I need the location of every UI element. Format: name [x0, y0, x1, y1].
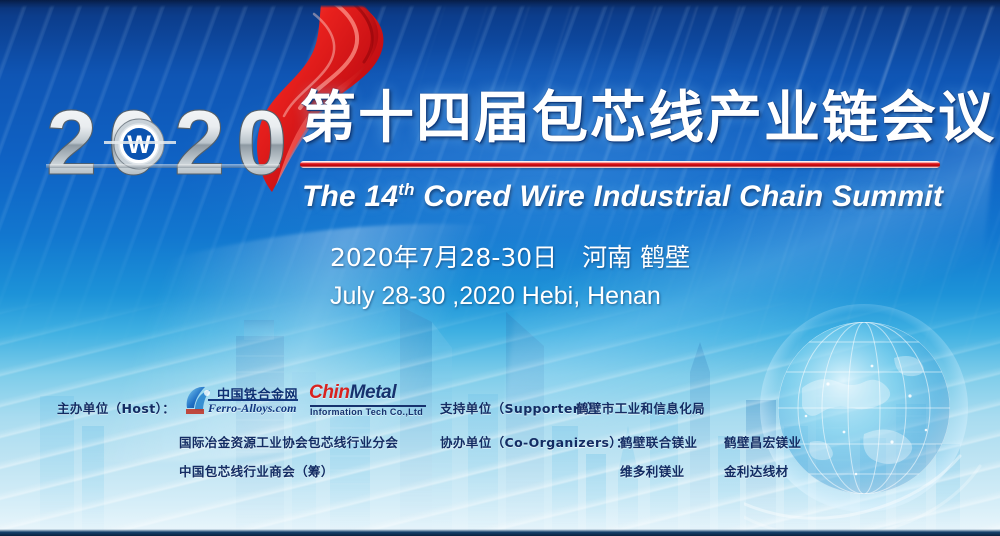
chinmetal-word-blue: Metal	[350, 382, 397, 403]
event-date-en: July 28-30 ,2020 Hebi, Henan	[330, 281, 661, 311]
svg-text:W: W	[127, 131, 151, 159]
co-organizer-item-4: 金利达线材	[724, 461, 789, 480]
wireframe-globe-icon	[744, 292, 992, 536]
chinmetal-subtitle: Information Tech Co.,Ltd	[310, 407, 423, 417]
chinmetal-logo: ChinMetal Information Tech Co.,Ltd	[309, 382, 429, 420]
title-en-ordinal: th	[398, 180, 414, 199]
host-org-line-2: 中国包芯线行业商会（筹）	[179, 461, 334, 480]
top-edge-band	[0, 0, 1000, 8]
ferro-alloys-en: Ferro-Alloys.com	[208, 401, 297, 416]
bottom-edge-band	[0, 529, 1000, 536]
conference-banner: 2 0 2 0 W 第十四届包芯线产业链会议 The 14th Cored Wi…	[0, 0, 1000, 536]
co-organizers-label: 协办单位（Co-Organizers）：	[440, 432, 629, 451]
event-date-cn: 2020年7月28-30日 河南 鹤壁	[330, 243, 690, 273]
host-label: 主办单位（Host）：	[57, 398, 175, 417]
title-divider	[300, 161, 940, 168]
page-title-en: The 14th Cored Wire Industrial Chain Sum…	[302, 172, 942, 215]
svg-text:2: 2	[46, 96, 97, 188]
logo-2020: 2 0 2 0 W	[46, 96, 306, 188]
title-en-post: Cored Wire Industrial Chain Summit	[415, 180, 943, 213]
title-en-pre: The 14	[302, 180, 398, 213]
svg-text:0: 0	[236, 96, 287, 188]
host-org-line-1: 国际冶金资源工业协会包芯线行业分会	[179, 432, 398, 451]
co-organizer-item-2: 鹤壁昌宏镁业	[724, 432, 801, 451]
co-organizer-item-1: 鹤壁联合镁业	[620, 432, 697, 451]
chinmetal-wordmark: ChinMetal	[309, 382, 396, 404]
supporters-value: 鹤壁市工业和信息化局	[576, 398, 705, 417]
page-title-cn: 第十四届包芯线产业链会议	[300, 88, 940, 150]
svg-text:2: 2	[174, 96, 225, 188]
chinmetal-word-red: Chin	[309, 382, 350, 403]
ferro-alloys-logo: 中国铁合金网 Ferro-Alloys.com	[183, 383, 299, 419]
co-organizer-item-3: 维多利镁业	[620, 461, 685, 480]
